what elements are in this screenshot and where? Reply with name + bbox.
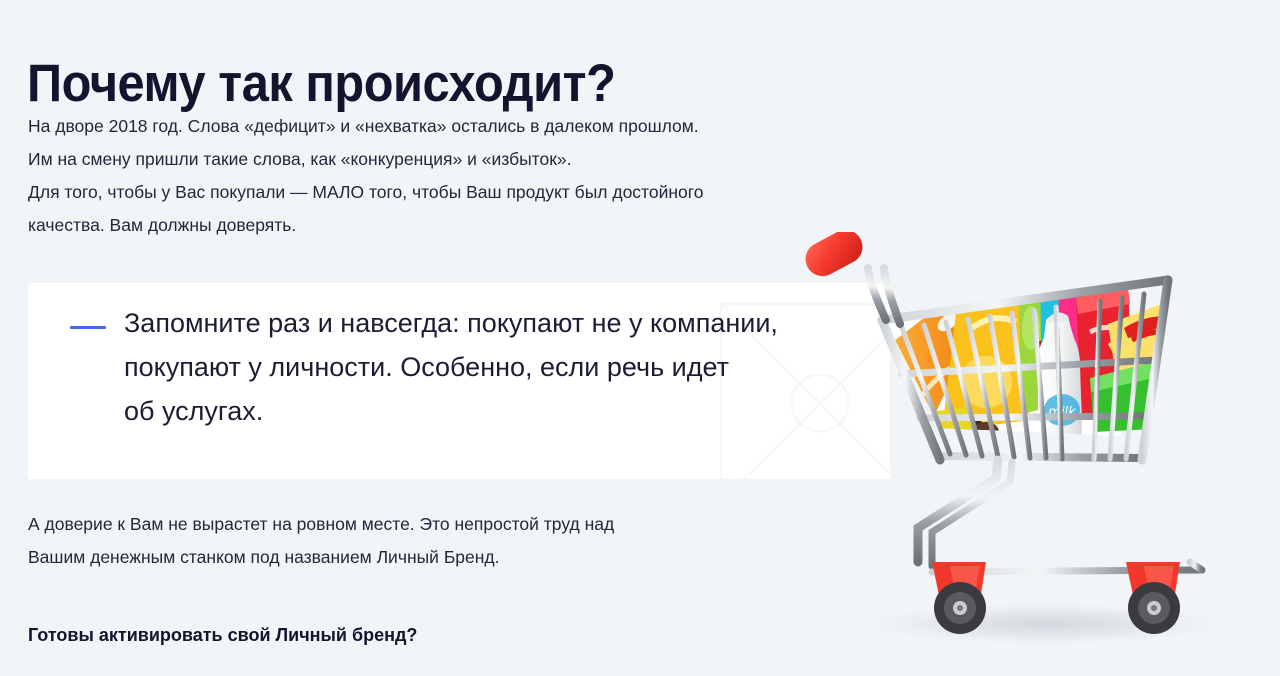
quote-card: Запомните раз и навсегда: покупают не у … <box>28 283 890 479</box>
shopping-cart-illustration: milk KETCHUP <box>790 232 1260 652</box>
quote-text: Запомните раз и навсегда: покупают не у … <box>124 301 824 433</box>
page-title: Почему так происходит? <box>27 53 615 115</box>
intro-line: Им на смену пришли такие слова, как «кон… <box>28 143 858 176</box>
closing-line: А доверие к Вам не вырастет на ровном ме… <box>28 508 788 541</box>
cta-question: Готовы активировать свой Личный бренд? <box>28 622 417 648</box>
cart-handle <box>800 232 900 324</box>
intro-paragraph: На дворе 2018 год. Слова «дефицит» и «не… <box>28 110 858 242</box>
intro-line: На дворе 2018 год. Слова «дефицит» и «не… <box>28 110 858 143</box>
intro-line: качества. Вам должны доверять. <box>28 209 858 242</box>
cart-wheel-back <box>1126 562 1180 634</box>
intro-line: Для того, чтобы у Вас покупали — МАЛО то… <box>28 176 858 209</box>
svg-text:KETCHUP: KETCHUP <box>1180 418 1217 427</box>
ketchup-bottle: KETCHUP <box>1178 336 1218 458</box>
cart-wheel-front <box>932 562 986 634</box>
quote-line: об услугах. <box>124 389 824 433</box>
handle-grip <box>800 232 869 282</box>
closing-line: Вашим денежным станком под названием Лич… <box>28 541 788 574</box>
quote-line: Запомните раз и навсегда: покупают не у … <box>124 301 824 345</box>
quote-dash-marker <box>70 326 106 329</box>
closing-paragraph: А доверие к Вам не вырастет на ровном ме… <box>28 508 788 574</box>
article-section: Почему так происходит? На дворе 2018 год… <box>0 0 1280 676</box>
cart-frame <box>918 460 1202 572</box>
quote-line: покупают у личности. Особенно, если речь… <box>124 345 824 389</box>
